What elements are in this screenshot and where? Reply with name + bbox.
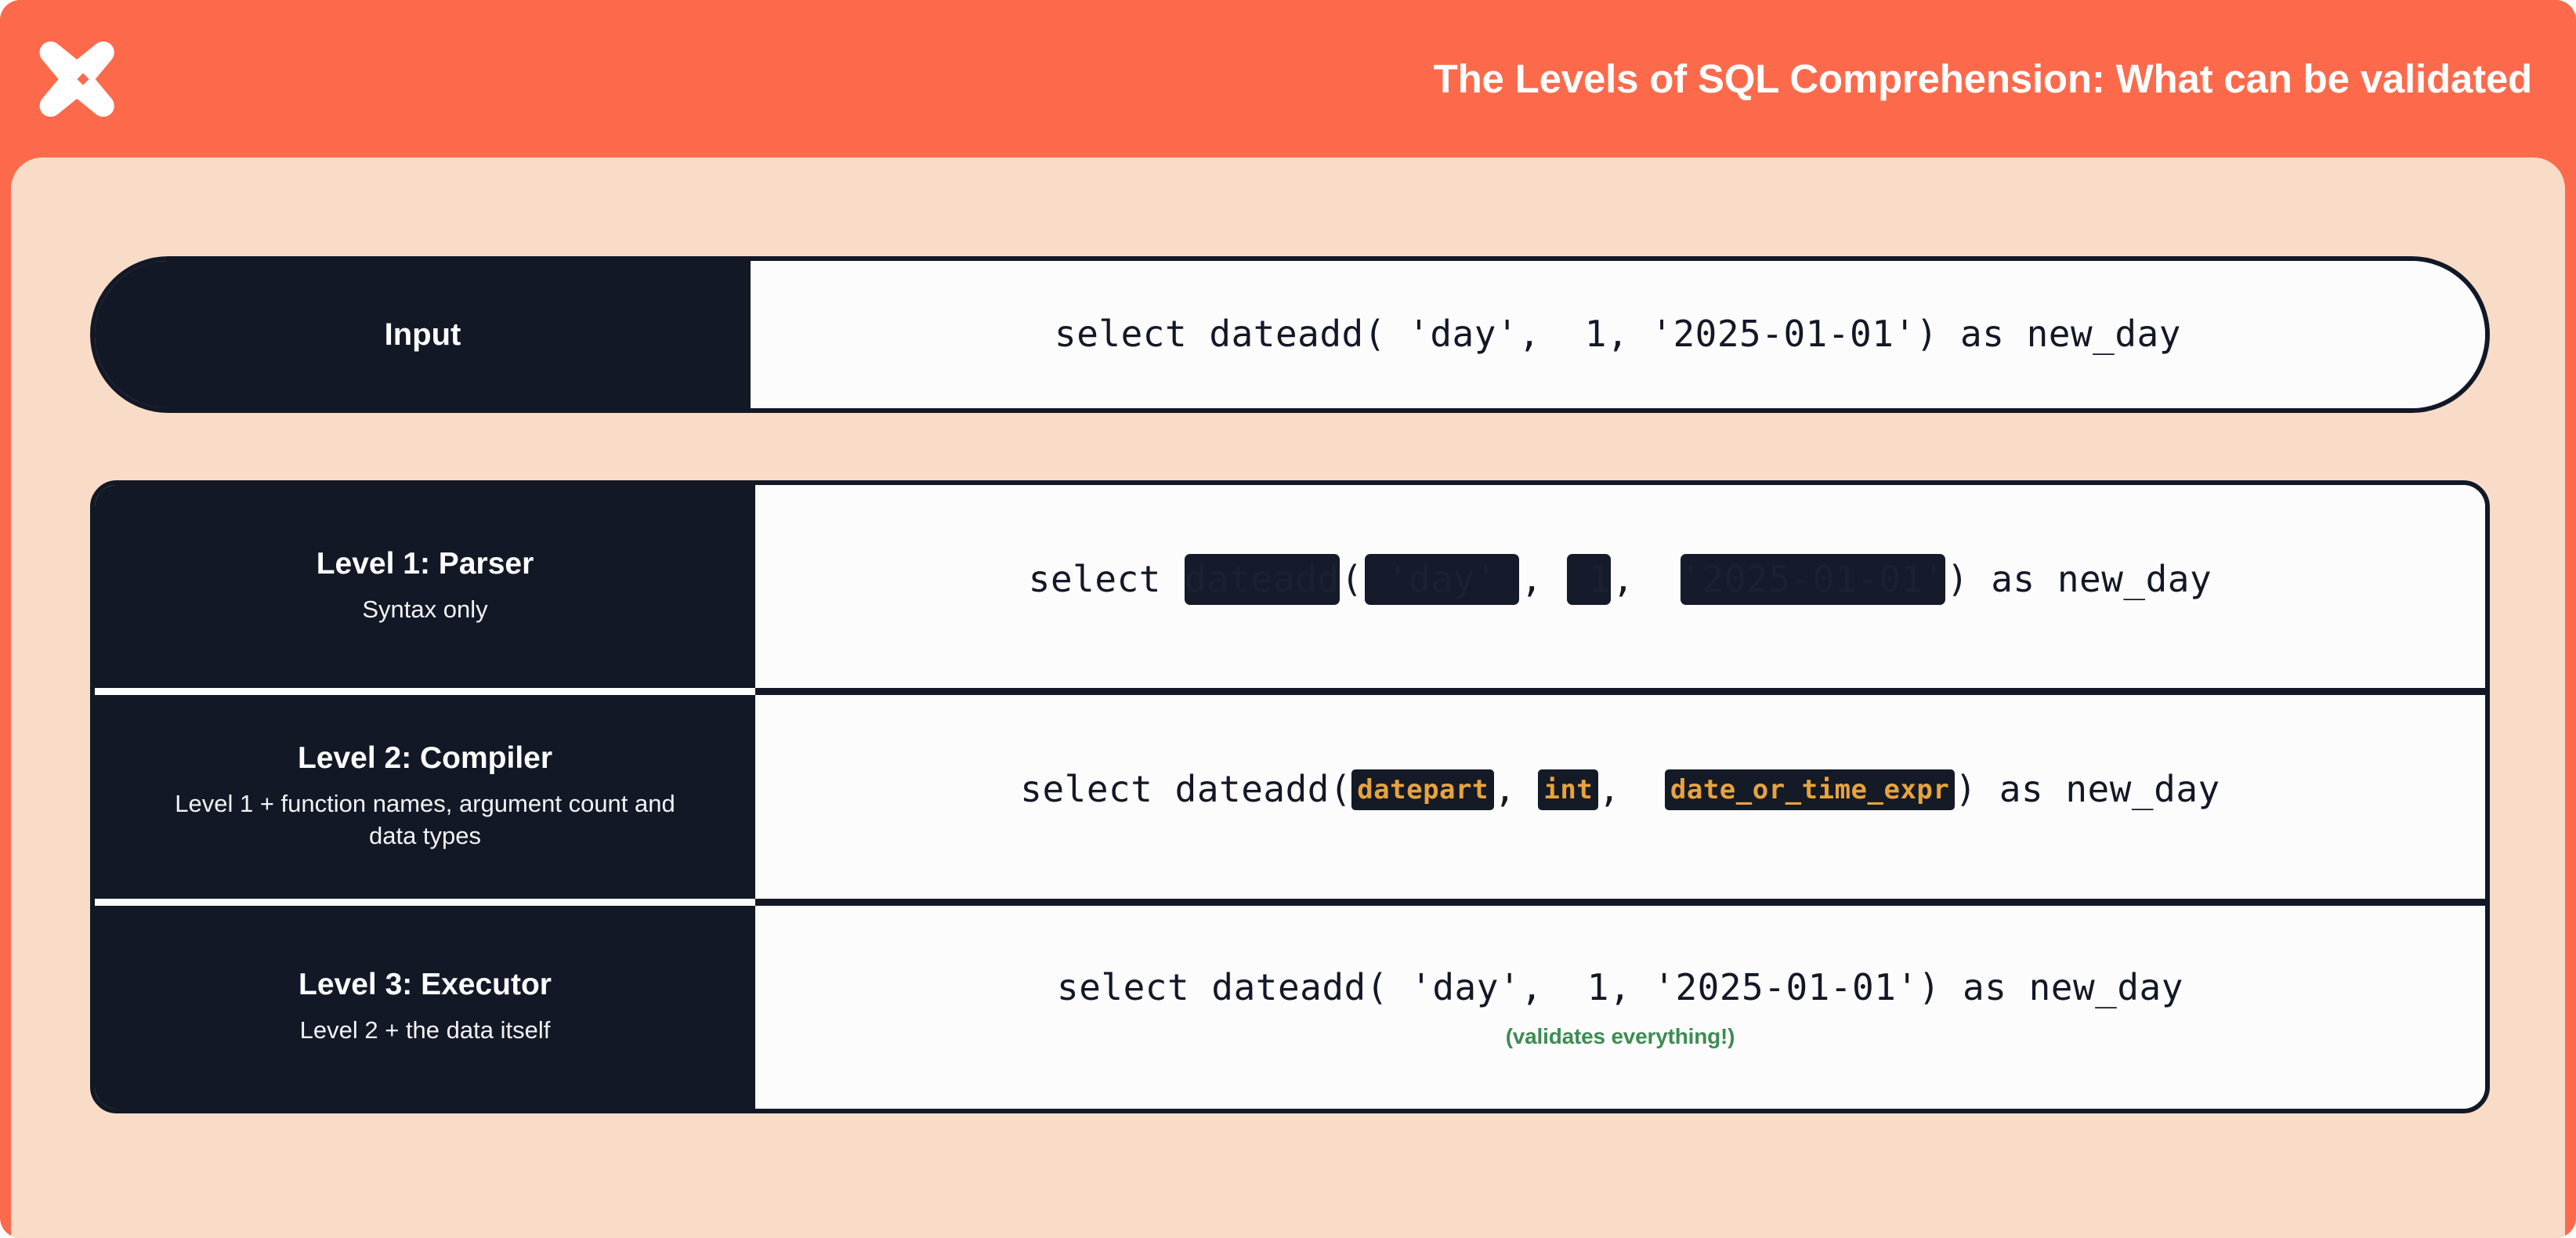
level-3-code-cell: select dateadd( 'day', 1, '2025-01-01') … [755, 906, 2485, 1109]
input-card: Input select dateadd( 'day', 1, '2025-01… [90, 256, 2490, 413]
level-3-label-cell: Level 3: Executor Level 2 + the data its… [95, 899, 755, 1109]
code-text: ( [1341, 557, 1363, 603]
code-text: , [1521, 557, 1565, 603]
redacted-token: '2025-01-01' [1681, 554, 1945, 606]
brand-logo [36, 32, 130, 126]
level-2-code: select dateadd(datepart, int, date_or_ti… [1020, 767, 2220, 813]
level-subtitle: Level 2 + the data itself [300, 1014, 551, 1047]
level-3-code: select dateadd( 'day', 1, '2025-01-01') … [1057, 965, 2183, 1011]
code-text: , [1598, 767, 1665, 813]
level-3-note: (validates everything!) [1506, 1024, 1735, 1049]
type-token-badge: int [1538, 769, 1598, 810]
level-2-code-cell: select dateadd(datepart, int, date_or_ti… [755, 695, 2485, 898]
code-text: select dateadd( [1020, 767, 1351, 813]
redacted-token: dateadd [1185, 554, 1339, 606]
code-text: ) as new_day [1955, 767, 2220, 813]
code-text: select dateadd( 'day', 1, '2025-01-01') … [1057, 965, 2183, 1011]
content-panel: Input select dateadd( 'day', 1, '2025-01… [11, 157, 2565, 1238]
levels-card: Level 1: Parser Syntax only select datea… [90, 480, 2490, 1113]
level-title: Level 1: Parser [317, 547, 534, 582]
level-title: Level 3: Executor [298, 968, 552, 1003]
input-label-cell: Input [95, 261, 751, 408]
input-code-cell: select dateadd( 'day', 1, '2025-01-01') … [751, 261, 2485, 408]
code-text: , [1612, 557, 1679, 603]
infographic-frame: The Levels of SQL Comprehension: What ca… [0, 0, 2576, 1238]
redacted-token: 1 [1567, 554, 1611, 606]
level-1-code-cell: select dateadd( 'day' , 1, '2025-01-01')… [755, 485, 2485, 688]
level-1-label-cell: Level 1: Parser Syntax only [95, 485, 755, 688]
level-row: Level 3: Executor Level 2 + the data its… [95, 899, 2485, 1109]
input-code: select dateadd( 'day', 1, '2025-01-01') … [1055, 312, 2181, 357]
level-row: Level 1: Parser Syntax only select datea… [95, 485, 2485, 688]
level-title: Level 2: Compiler [298, 741, 552, 776]
code-text: , [1494, 767, 1538, 813]
level-2-label-cell: Level 2: Compiler Level 1 + function nam… [95, 688, 755, 898]
type-token-badge: date_or_time_expr [1665, 769, 1956, 810]
level-subtitle: Syntax only [362, 593, 487, 626]
level-subtitle: Level 1 + function names, argument count… [151, 787, 700, 853]
page-title: The Levels of SQL Comprehension: What ca… [1434, 56, 2540, 102]
code-text: select [1029, 557, 1183, 603]
level-1-code: select dateadd( 'day' , 1, '2025-01-01')… [1029, 554, 2212, 606]
xenon-x-logo-icon [39, 35, 127, 123]
redacted-token: 'day' [1365, 554, 1519, 606]
code-text: ) as new_day [1947, 557, 2212, 603]
type-token-badge: datepart [1351, 769, 1494, 810]
level-row: Level 2: Compiler Level 1 + function nam… [95, 688, 2485, 898]
input-label: Input [385, 317, 461, 353]
header-bar: The Levels of SQL Comprehension: What ca… [0, 0, 2576, 157]
